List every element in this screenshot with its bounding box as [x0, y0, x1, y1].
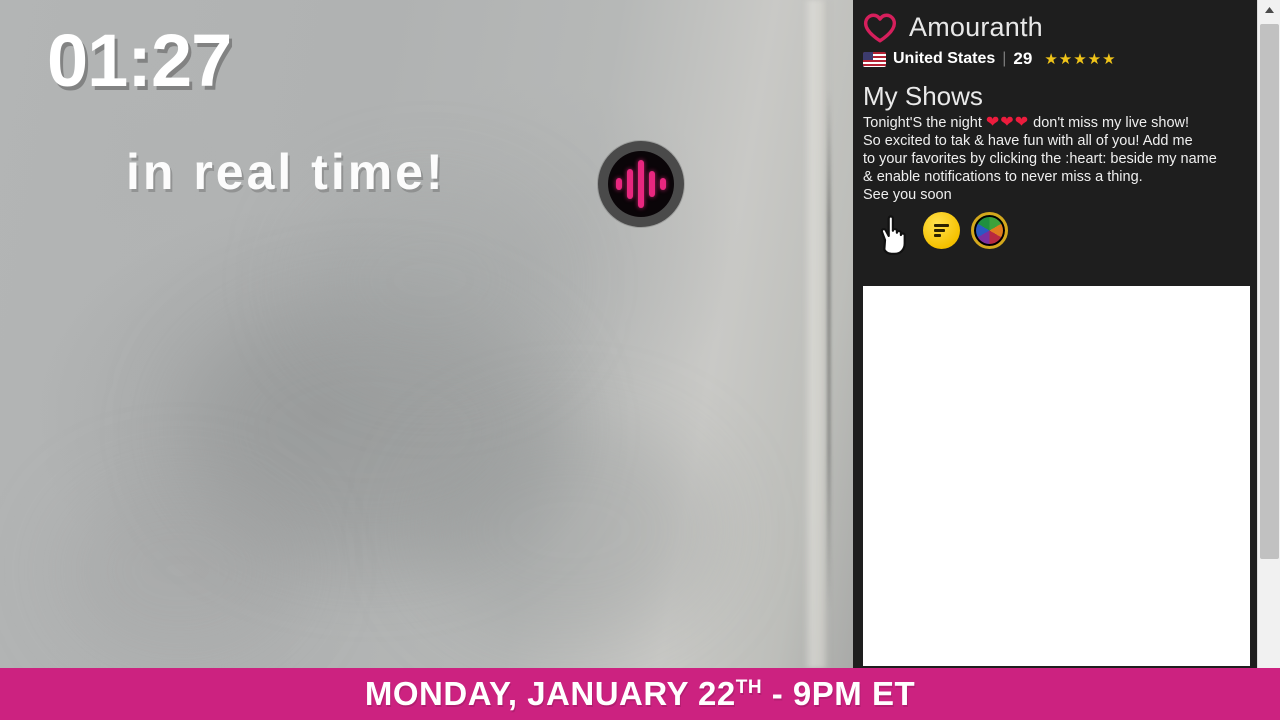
content-white-panel[interactable]	[863, 286, 1250, 666]
countdown-timer: 01:27	[47, 18, 231, 103]
star-rating-icon: ★★★★★	[1044, 50, 1116, 68]
description-line: Tonight'S the night ❤❤❤ don't miss my li…	[863, 114, 1247, 132]
my-shows-heading: My Shows	[853, 69, 1257, 112]
model-handle[interactable]: Amouranth	[909, 12, 1043, 43]
emoji-face-glyph	[934, 224, 949, 237]
meta-divider: |	[1002, 50, 1006, 68]
scroll-thumb[interactable]	[1260, 24, 1279, 559]
banner-suffix: - 9PM ET	[762, 675, 915, 712]
heart-emoji-icon: ❤❤❤	[986, 114, 1029, 131]
emoji-face-button[interactable]	[923, 212, 960, 249]
wave-bar	[638, 160, 644, 208]
background-wall-line	[827, 90, 831, 610]
scroll-up-arrow-icon[interactable]	[1258, 0, 1280, 19]
us-flag-icon	[863, 52, 886, 67]
my-shows-description: Tonight'S the night ❤❤❤ don't miss my li…	[853, 112, 1257, 204]
background-wall-edge	[803, 0, 829, 668]
rating-count: 29	[1013, 49, 1032, 69]
page-scrollbar[interactable]	[1257, 0, 1280, 668]
profile-meta-row: United States | 29 ★★★★★	[853, 43, 1257, 69]
heart-outline-icon[interactable]	[863, 13, 897, 43]
wave-bar	[660, 178, 666, 190]
background-blur-blob	[420, 420, 720, 640]
prize-wheel-button[interactable]	[971, 212, 1008, 249]
description-line: & enable notifications to never miss a t…	[863, 168, 1247, 186]
promo-banner: MONDAY, JANUARY 22TH - 9PM ET	[0, 668, 1280, 720]
description-line: See you soon	[863, 186, 1247, 204]
background-blur-blob	[300, 180, 560, 380]
description-line-1b: don't miss my live show!	[1029, 115, 1189, 131]
audio-wave-icon	[598, 141, 684, 227]
model-info-panel: Amouranth United States | 29 ★★★★★ My Sh…	[853, 0, 1257, 668]
wave-bar	[616, 178, 622, 190]
country-label: United States	[893, 50, 995, 68]
description-line-1a: Tonight'S the night	[863, 115, 986, 131]
stream-page: 01:27 in real time! Amouranth United Sta…	[0, 0, 1280, 720]
tagline-text: in real time!	[126, 143, 446, 201]
profile-header: Amouranth	[853, 0, 1257, 43]
promo-banner-text: MONDAY, JANUARY 22TH - 9PM ET	[365, 675, 915, 713]
hand-pointer-cursor	[871, 210, 915, 258]
reaction-buttons-row	[853, 204, 1257, 249]
video-stream-area[interactable]: 01:27 in real time!	[0, 0, 853, 668]
banner-ordinal: TH	[736, 677, 762, 698]
audio-wave-inner	[608, 151, 674, 217]
background-blur-blob	[60, 480, 300, 660]
banner-prefix: MONDAY, JANUARY 22	[365, 675, 736, 712]
description-line: So excited to tak & have fun with all of…	[863, 132, 1247, 150]
wave-bar	[627, 169, 633, 199]
wave-bar	[649, 171, 655, 197]
description-line: to your favorites by clicking the :heart…	[863, 150, 1247, 168]
